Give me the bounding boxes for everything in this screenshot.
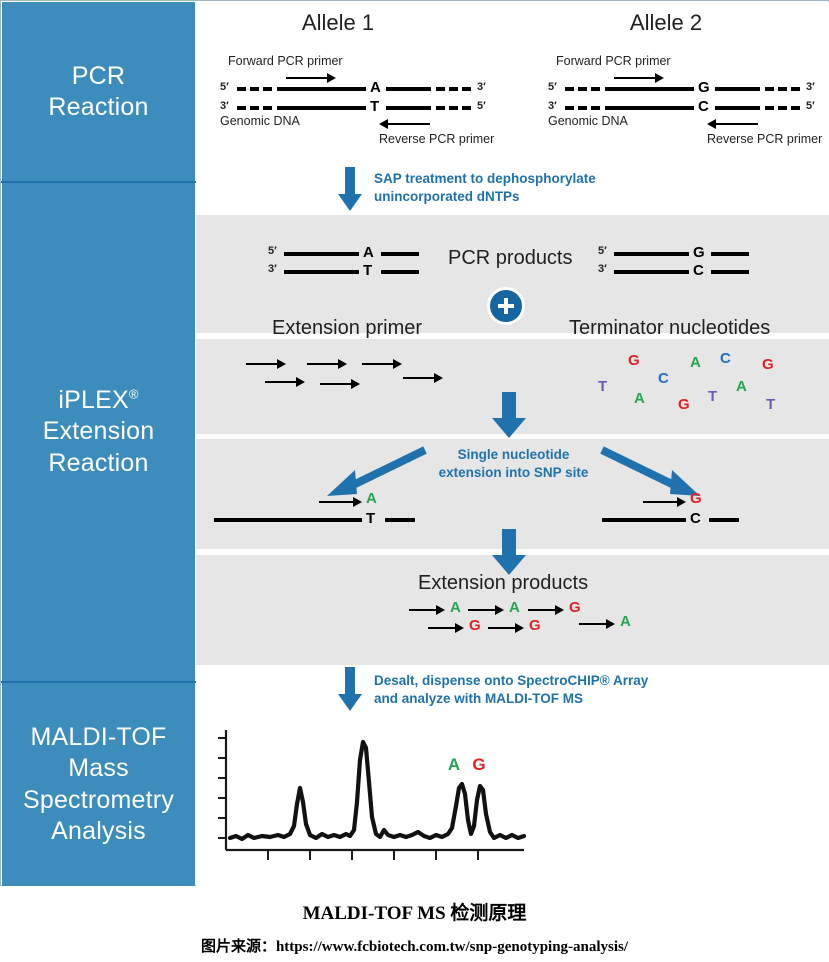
allele1-top-dash [462, 87, 471, 91]
ext-prod-arrow-head [515, 623, 524, 633]
pcrprod1-top-base: A [363, 245, 374, 260]
allele1-top-solid-right [386, 87, 431, 91]
allele1-bottom-base: T [370, 99, 379, 114]
allele1-bottom-dash [462, 106, 471, 110]
spectrum-peak-label-g: G [472, 755, 485, 774]
ext-result-left-solid-right [385, 518, 415, 522]
allele2-forward-arrow-line [614, 77, 656, 79]
allele1-forward-arrow-line [286, 77, 328, 79]
ext-result-left-top-base: A [366, 491, 377, 506]
allele1-top-dash [237, 87, 246, 91]
allele2-top-dash [578, 87, 587, 91]
pcrprod2-bottom-base: C [693, 263, 704, 278]
allele1-top-5prime: 5′ [220, 81, 229, 93]
allele1-bottom-dash [263, 106, 272, 110]
allele2-top-dash [565, 87, 574, 91]
pcrprod2-bottom-solid [614, 270, 689, 274]
allele2-bottom-5prime: 5′ [806, 100, 815, 112]
ext-primer-arrow-head [393, 359, 402, 369]
ext-primer-arrow-line [403, 377, 435, 379]
pcrprod1-top-solid [284, 252, 359, 256]
terminator-nucleotide: C [720, 351, 731, 366]
allele2-reverse-arrow-head [707, 119, 716, 129]
terminator-caption: Terminator nucleotides [569, 317, 770, 340]
plus-icon [487, 287, 525, 325]
ext-prod-bottom-base: G [529, 618, 541, 633]
terminator-nucleotide: G [762, 357, 774, 372]
pcrprod2-top-solid [614, 252, 689, 256]
allele2-bottom-3prime: 3′ [548, 100, 557, 112]
allele1-reverse-arrow-head [379, 119, 388, 129]
allele2-forward-arrow-head [655, 73, 664, 83]
allele1-top-dash [436, 87, 445, 91]
allele1-top-dash [449, 87, 458, 91]
allele2-top-dash [765, 87, 774, 91]
pcrprod2-5prime: 5′ [598, 245, 607, 257]
extension-primer-caption: Extension primer [272, 317, 422, 340]
spectrum-peak-label-a: A [448, 755, 460, 774]
ext-primer-arrow-head [277, 359, 286, 369]
pcrprod2-bottom-solid-right [711, 270, 749, 274]
terminator-nucleotide: A [690, 355, 701, 370]
allele2-top-dash [791, 87, 800, 91]
allele1-forward-primer-label: Forward PCR primer [228, 54, 343, 68]
allele1-reverse-primer-label: Reverse PCR primer [379, 132, 494, 146]
ext-prod-arrow-line [468, 609, 496, 611]
allele2-reverse-arrow-line [716, 123, 758, 125]
ext-primer-arrow-line [265, 381, 297, 383]
ext-primer-arrow-head [296, 377, 305, 387]
ext-result-right-bottom-base: C [690, 511, 701, 526]
allele2-forward-primer-label: Forward PCR primer [556, 54, 671, 68]
ext-result-right-solid [602, 518, 686, 522]
terminator-nucleotide: C [658, 371, 669, 386]
allele2-bottom-dash [765, 106, 774, 110]
allele2-genomic-dna-label: Genomic DNA [548, 114, 628, 128]
pcrprod1-bottom-solid [284, 270, 359, 274]
sidebar-section-pcr: PCRReaction [2, 2, 195, 182]
pcrprod2-top-base: G [693, 245, 705, 260]
ext-prod-arrow-line [528, 609, 556, 611]
ext-prod-top-base: A [620, 614, 631, 629]
ext-result-right-top-base: G [690, 491, 702, 506]
terminator-nucleotide: T [598, 379, 607, 394]
allele1-top-dash [250, 87, 259, 91]
ext-prod-arrow-head [606, 619, 615, 629]
mass-spectrum-chart: A G [206, 722, 536, 872]
pcrprod1-bottom-solid-right [381, 270, 419, 274]
ext-primer-arrow-head [338, 359, 347, 369]
ext-primer-arrow-line [320, 383, 352, 385]
allele2-top-3prime: 3′ [806, 81, 815, 93]
ext-prod-arrow-line [428, 627, 456, 629]
ext-result-left-arrow-line [319, 501, 354, 503]
desalt-step-text: Desalt, dispense onto SpectroCHIP® Array… [374, 672, 648, 708]
allele1-top-base: A [370, 80, 381, 95]
allele2-bottom-base: C [698, 99, 709, 114]
pcrprod2-top-solid-right [711, 252, 749, 256]
extension-products-caption: Extension products [418, 572, 588, 595]
allele1-top-3prime: 3′ [477, 81, 486, 93]
terminator-nucleotide: T [708, 389, 717, 404]
allele1-top-dash [263, 87, 272, 91]
ext-prod-top-base: G [569, 600, 581, 615]
allele1-bottom-dash [237, 106, 246, 110]
terminator-nucleotide-scatter: TGACGATCAGT [586, 347, 796, 407]
sidebar-section-maldi: MALDI-TOFMassSpectrometryAnalysis [2, 682, 195, 887]
ext-prod-arrow-head [555, 605, 564, 615]
allele1-bottom-5prime: 5′ [477, 100, 486, 112]
diagram-figure: PCRReaction iPLEX®ExtensionReaction MALD… [0, 0, 829, 886]
allele1-bottom-solid [277, 106, 366, 110]
allele1-title: Allele 1 [218, 10, 458, 36]
allele2-reverse-primer-label: Reverse PCR primer [707, 132, 822, 146]
sidebar: PCRReaction iPLEX®ExtensionReaction MALD… [2, 2, 195, 886]
ext-result-left-bottom-base: T [366, 511, 375, 526]
allele2-bottom-dash [578, 106, 587, 110]
diagram-main: Allele 1 Allele 2 Forward PCR primer 5′ … [196, 2, 829, 886]
ext-primer-arrow-head [351, 379, 360, 389]
ext-result-left-arrow-head [353, 497, 362, 507]
allele1-top-solid [277, 87, 366, 91]
snp-step-arrow-icon [491, 392, 527, 440]
sap-step-arrow-icon [337, 167, 363, 213]
pcrprod2-3prime: 3′ [598, 263, 607, 275]
pcr-products-caption: PCR products [448, 247, 573, 270]
allele1-bottom-dash [250, 106, 259, 110]
terminator-nucleotide: A [634, 391, 645, 406]
pcrprod1-5prime: 5′ [268, 245, 277, 257]
sidebar-label-pcr: PCRReaction [48, 61, 148, 124]
figure-source: 图片来源：https://www.fcbiotech.com.tw/snp-ge… [0, 935, 829, 956]
allele2-bottom-dash [791, 106, 800, 110]
allele1-forward-arrow-head [327, 73, 336, 83]
sap-step-text: SAP treatment to dephosphorylate unincor… [374, 170, 596, 206]
ext-prod-arrow-line [488, 627, 516, 629]
spectrum-x-ticks [268, 850, 478, 860]
allele1-bottom-3prime: 3′ [220, 100, 229, 112]
ext-prod-arrow-head [455, 623, 464, 633]
ext-result-right-arrow-head [677, 497, 686, 507]
allele2-bottom-dash [591, 106, 600, 110]
terminator-nucleotide: T [766, 397, 775, 412]
allele2-top-dash [778, 87, 787, 91]
ext-prod-bottom-base: G [469, 618, 481, 633]
terminator-nucleotide: G [628, 353, 640, 368]
allele1-bottom-dash [449, 106, 458, 110]
allele2-title: Allele 2 [546, 10, 786, 36]
allele2-top-5prime: 5′ [548, 81, 557, 93]
snp-step-text: Single nucleotide extension into SNP sit… [426, 446, 601, 482]
spectrum-y-ticks [218, 738, 226, 838]
pcrprod1-top-solid-right [381, 252, 419, 256]
ext-prod-arrow-line [579, 623, 607, 625]
ext-prod-arrow-head [436, 605, 445, 615]
ext-prod-arrow-line [409, 609, 437, 611]
allele1-genomic-dna-label: Genomic DNA [220, 114, 300, 128]
figure-title: MALDI-TOF MS 检测原理 [0, 898, 829, 925]
ext-primer-arrow-line [246, 363, 278, 365]
pcrprod1-3prime: 3′ [268, 263, 277, 275]
allele2-bottom-solid-right [715, 106, 760, 110]
terminator-nucleotide: G [678, 397, 690, 412]
desalt-step-arrow-icon [337, 667, 363, 713]
allele1-bottom-dash [436, 106, 445, 110]
sidebar-section-iplex: iPLEX®ExtensionReaction [2, 182, 195, 682]
allele2-bottom-dash [565, 106, 574, 110]
terminator-nucleotide: A [736, 379, 747, 394]
source-prefix: 图片来源： [201, 939, 276, 955]
ext-prod-arrow-head [495, 605, 504, 615]
ext-result-right-solid-right [709, 518, 739, 522]
sidebar-label-maldi: MALDI-TOFMassSpectrometryAnalysis [23, 722, 174, 847]
ext-result-left-solid [214, 518, 362, 522]
allele2-top-solid [605, 87, 694, 91]
source-url: https://www.fcbiotech.com.tw/snp-genotyp… [276, 939, 628, 955]
ext-primer-arrow-head [434, 373, 443, 383]
ext-prod-top-base: A [509, 600, 520, 615]
allele2-top-dash [591, 87, 600, 91]
extension-products-step-arrow-icon [491, 529, 527, 577]
allele1-bottom-solid-right [386, 106, 431, 110]
allele1-reverse-arrow-line [388, 123, 430, 125]
ext-prod-top-base: A [450, 600, 461, 615]
allele2-bottom-solid [605, 106, 694, 110]
ext-primer-arrow-line [307, 363, 339, 365]
allele2-top-base: G [698, 80, 710, 95]
pcrprod1-bottom-base: T [363, 263, 372, 278]
allele2-bottom-dash [778, 106, 787, 110]
ext-primer-arrow-line [362, 363, 394, 365]
ext-result-right-arrow-line [643, 501, 678, 503]
sidebar-label-iplex: iPLEX®ExtensionReaction [43, 385, 155, 479]
allele2-top-solid-right [715, 87, 760, 91]
